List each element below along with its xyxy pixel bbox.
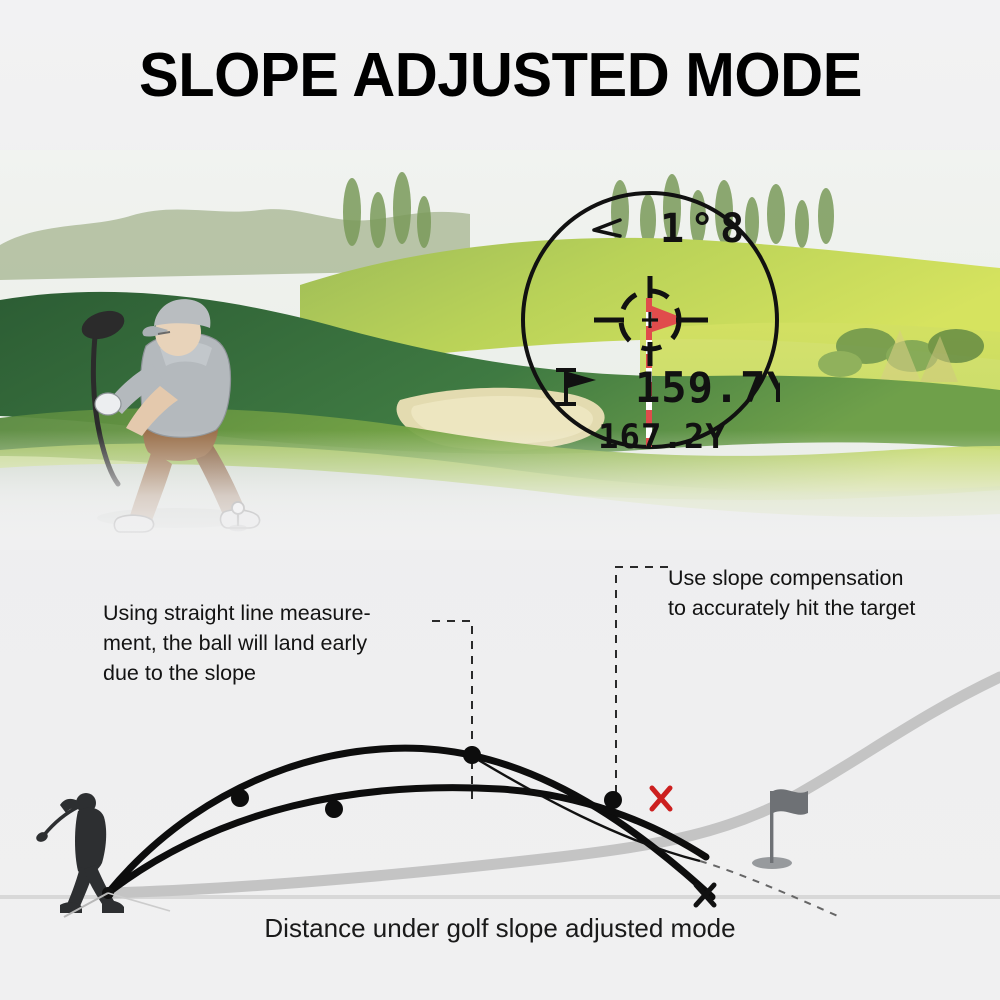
leader-line-right (616, 567, 668, 800)
title-bar: SLOPE ADJUSTED MODE (0, 0, 1000, 150)
slope-adjusted-mode-infographic: SLOPE ADJUSTED MODE (0, 0, 1000, 1000)
golf-course-photo (0, 150, 1000, 550)
golfer-left-shoe (114, 515, 153, 532)
leader-line-left (432, 621, 472, 800)
trajectory-dot (325, 800, 343, 818)
trajectory-dot (231, 789, 249, 807)
dashed-overshoot-line (700, 861, 840, 917)
diagram-caption: Distance under golf slope adjusted mode (0, 913, 1000, 944)
page-title: SLOPE ADJUSTED MODE (139, 40, 862, 111)
flag-pole (770, 791, 773, 863)
flag-cloth (773, 789, 808, 814)
line-of-sight-distance-readout: 167.2Y (598, 417, 727, 457)
golf-course-scene (0, 150, 1000, 550)
golfer-hands (95, 393, 121, 415)
trajectory-dot (463, 746, 481, 764)
slope-distance-readout: 159.7Y (635, 363, 780, 412)
green-flag-icon (752, 789, 808, 869)
miss-marker-x (652, 788, 670, 809)
hole-cup (633, 457, 665, 467)
angle-readout: 1°8 (660, 206, 750, 252)
angle-icon (594, 220, 620, 236)
trajectory-dot (604, 791, 622, 809)
rangefinder-viewfinder: 1°8 159.7Y 167.2Y (520, 170, 780, 470)
flag-lock-icon (556, 368, 596, 406)
